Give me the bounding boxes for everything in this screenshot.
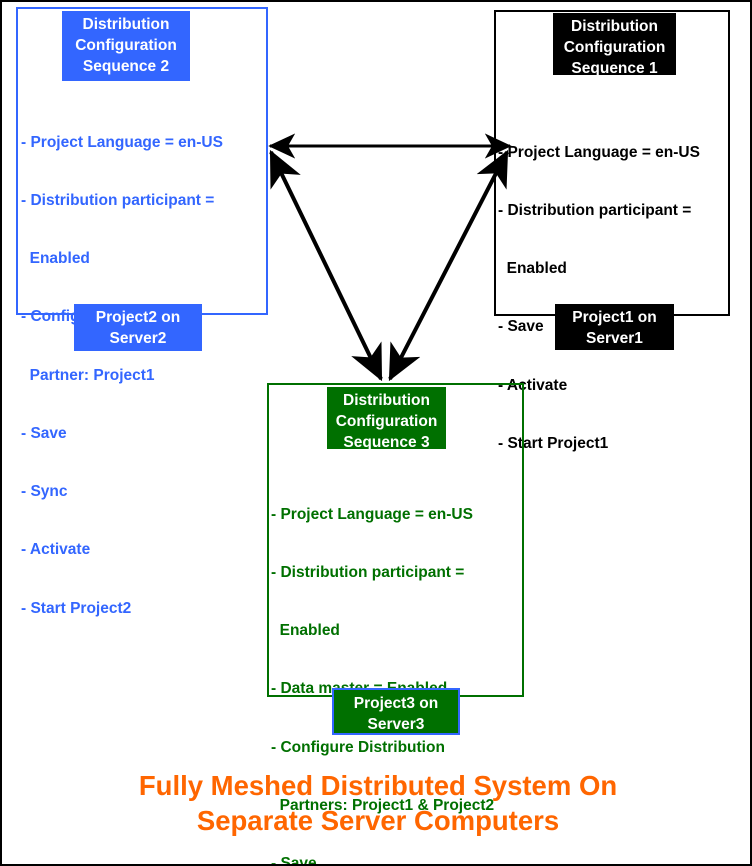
node-sequence-2-header-line3: Sequence 2 xyxy=(62,56,190,77)
diagram-caption: Fully Meshed Distributed System On Separ… xyxy=(2,768,752,838)
list-item: Enabled xyxy=(498,259,726,278)
node-sequence-1-header-line1: Distribution xyxy=(553,16,676,37)
node-sequence-1-label-line2: Server1 xyxy=(555,328,674,349)
list-item: - Activate xyxy=(21,540,261,559)
list-item: - Sync xyxy=(21,482,261,501)
node-sequence-2-label: Project2 on Server2 xyxy=(74,304,202,351)
diagram-canvas: Distribution Configuration Sequence 2 - … xyxy=(0,0,752,866)
list-item: - Save xyxy=(21,424,261,443)
list-item: - Distribution participant = xyxy=(498,201,726,220)
node-sequence-1-body: - Project Language = en-US - Distributio… xyxy=(498,104,726,492)
node-sequence-2-body: - Project Language = en-US - Distributio… xyxy=(21,94,261,657)
connector-seq1-seq3 xyxy=(390,152,507,379)
node-sequence-2-label-line1: Project2 on xyxy=(74,307,202,328)
node-sequence-1-header-line2: Configuration xyxy=(553,37,676,58)
list-item: - Save xyxy=(271,854,521,866)
node-sequence-3-header-line3: Sequence 3 xyxy=(327,432,446,453)
node-sequence-2-header-line2: Configuration xyxy=(62,35,190,56)
node-sequence-1-header: Distribution Configuration Sequence 1 xyxy=(553,13,676,75)
node-sequence-3-header-line1: Distribution xyxy=(327,390,446,411)
list-item: - Distribution participant = xyxy=(21,191,261,210)
node-sequence-3-header: Distribution Configuration Sequence 3 xyxy=(327,387,446,449)
list-item: - Project Language = en-US xyxy=(271,505,521,524)
node-sequence-2-header: Distribution Configuration Sequence 2 xyxy=(62,11,190,81)
node-sequence-3-header-line2: Configuration xyxy=(327,411,446,432)
list-item: - Project Language = en-US xyxy=(21,133,261,152)
list-item: - Project Language = en-US xyxy=(498,143,726,162)
node-sequence-1-label: Project1 on Server1 xyxy=(555,304,674,350)
node-sequence-3-label: Project3 on Server3 xyxy=(332,688,460,735)
connector-seq2-seq3 xyxy=(271,152,381,379)
node-sequence-2-label-line2: Server2 xyxy=(74,328,202,349)
caption-line-1: Fully Meshed Distributed System On xyxy=(2,768,752,803)
node-sequence-2-header-line1: Distribution xyxy=(62,14,190,35)
list-item: - Activate xyxy=(498,376,726,395)
node-sequence-3-label-line1: Project3 on xyxy=(334,693,458,714)
caption-line-2: Separate Server Computers xyxy=(2,803,752,838)
node-sequence-1-label-line1: Project1 on xyxy=(555,307,674,328)
list-item: Partner: Project1 xyxy=(21,366,261,385)
list-item: - Start Project2 xyxy=(21,599,261,618)
node-sequence-3-label-line2: Server3 xyxy=(334,714,458,735)
list-item: - Configure Distribution xyxy=(271,738,521,757)
list-item: Enabled xyxy=(271,621,521,640)
list-item: - Distribution participant = xyxy=(271,563,521,582)
list-item: Enabled xyxy=(21,249,261,268)
node-sequence-1-header-line3: Sequence 1 xyxy=(553,58,676,79)
list-item: - Start Project1 xyxy=(498,434,726,453)
